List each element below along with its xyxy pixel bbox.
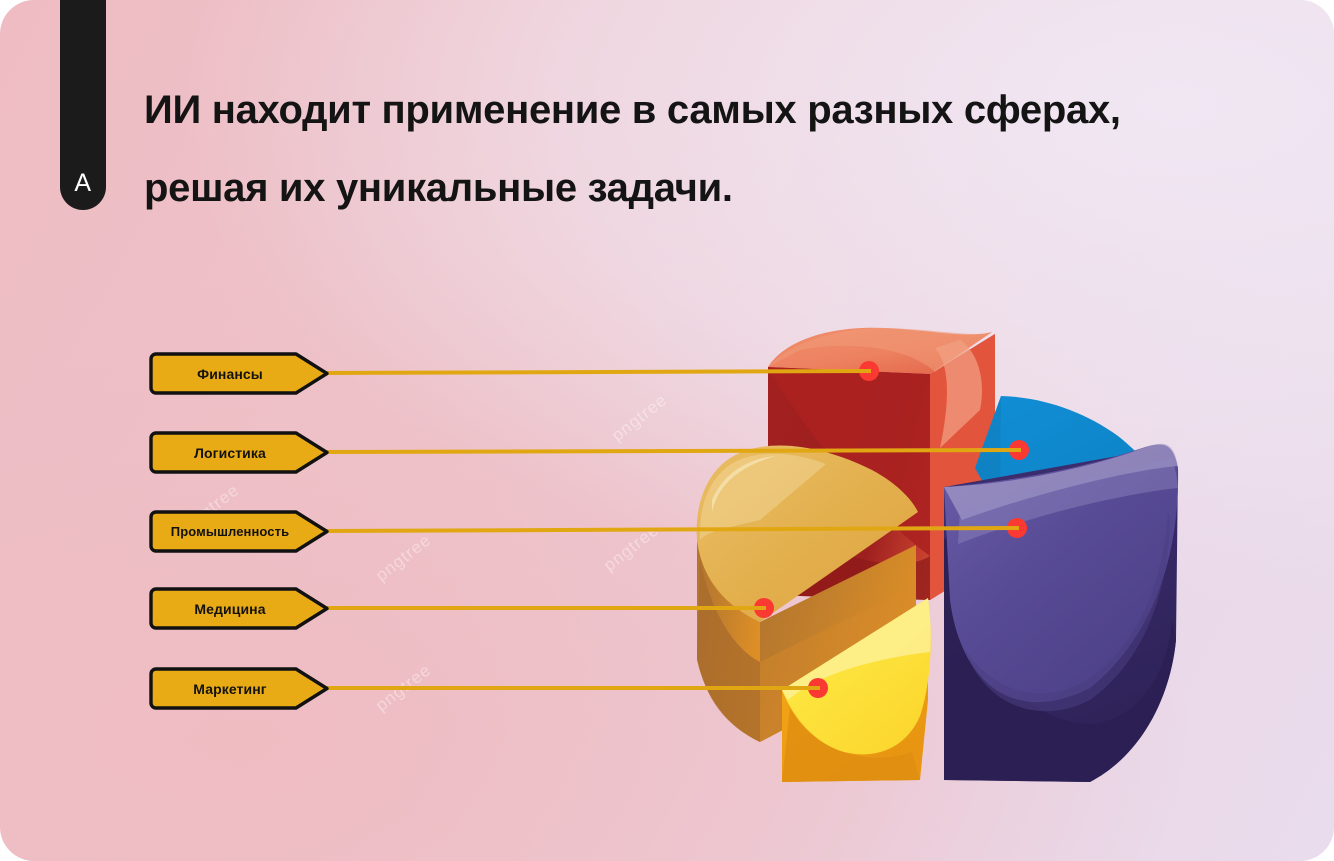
callout-shape (148, 665, 330, 712)
slice-marker-dot (808, 678, 828, 698)
callout-finansy[interactable]: Финансы (148, 350, 328, 397)
callout-shape (148, 429, 330, 476)
callout-shape (148, 585, 330, 632)
callout-logistika[interactable]: Логистика (148, 429, 328, 476)
slice-marker-dot (1007, 518, 1027, 538)
callout-shape (148, 350, 330, 397)
callout-shape (148, 508, 330, 555)
callout-marketing[interactable]: Маркетинг (148, 665, 328, 712)
pie-slice-promyshlennost[interactable] (944, 444, 1178, 782)
slice-marker-dot (754, 598, 774, 618)
slice-marker-dot (1009, 440, 1029, 460)
callout-meditsina[interactable]: Медицина (148, 585, 328, 632)
slice-marker-dot (859, 361, 879, 381)
infographic-slide: pngtree pngtree pngtree pngtree pngtree … (0, 0, 1334, 861)
callout-promyshlennost[interactable]: Промышленность (148, 508, 328, 555)
